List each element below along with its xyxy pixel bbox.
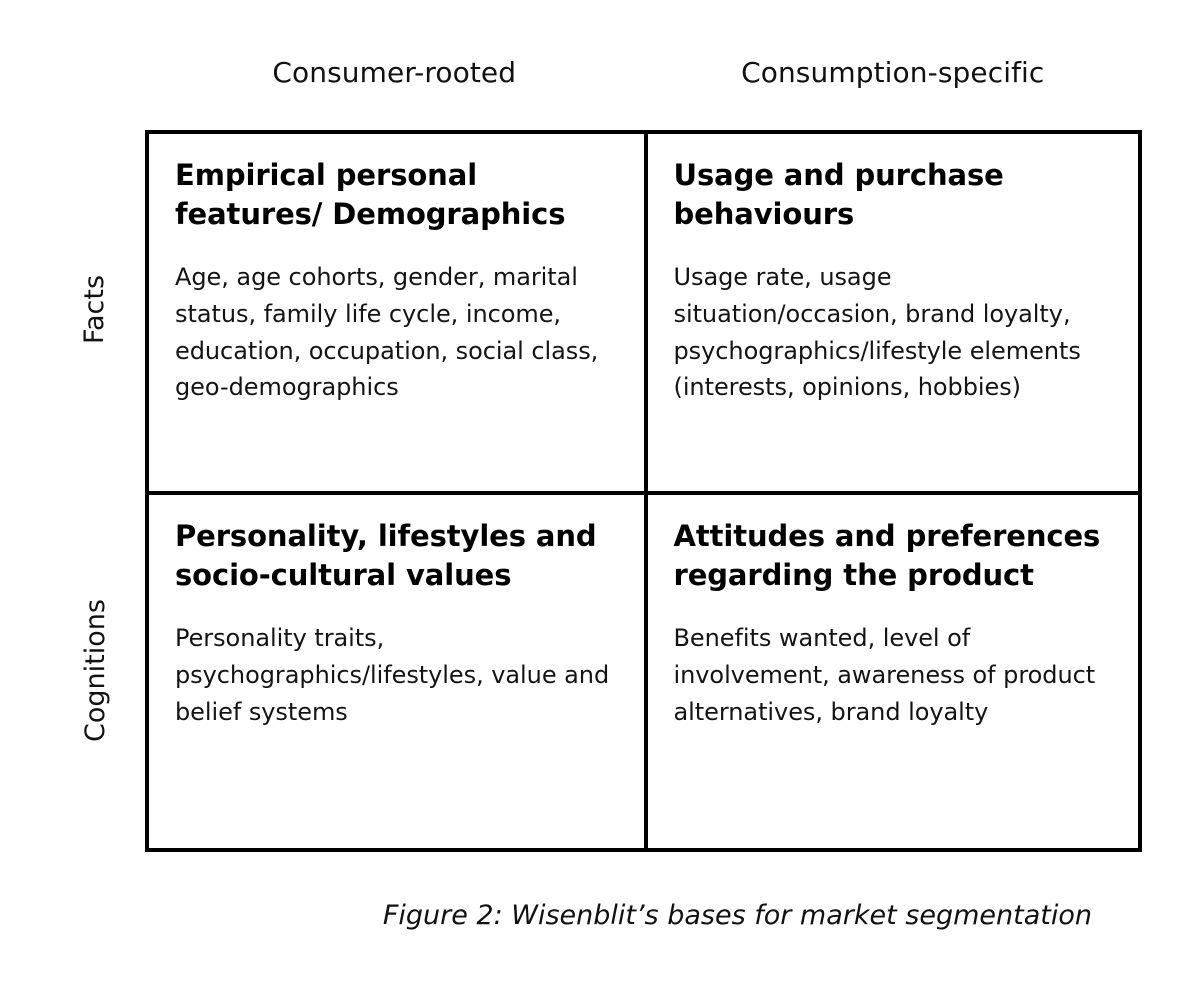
quadrant-title: Personality, lifestyles and socio-cultur… <box>175 517 618 594</box>
quadrant-cognitions-consumption-specific: Attitudes and preferences regarding the … <box>644 491 1139 848</box>
row-label-facts: Facts <box>60 130 130 489</box>
quadrant-title: Empirical personal features/ Demographic… <box>175 156 618 233</box>
row-label-facts-text: Facts <box>79 275 110 344</box>
row-label-column: Facts Cognitions <box>60 130 130 852</box>
quadrant-body: Age, age cohorts, gender, marital status… <box>175 259 618 406</box>
figure-caption: Figure 2: Wisenblit’s bases for market s… <box>0 900 1092 931</box>
matrix-grid: Empirical personal features/ Demographic… <box>145 130 1142 852</box>
quadrant-body: Personality traits, psychographics/lifes… <box>175 620 618 730</box>
quadrant-facts-consumption-specific: Usage and purchase behaviours Usage rate… <box>644 134 1139 491</box>
quadrant-body: Usage rate, usage situation/occasion, br… <box>674 259 1113 406</box>
quadrant-facts-consumer-rooted: Empirical personal features/ Demographic… <box>149 134 644 491</box>
column-header-consumer-rooted: Consumer-rooted <box>145 48 644 96</box>
quadrant-title: Usage and purchase behaviours <box>674 156 1113 233</box>
column-header-row: Consumer-rooted Consumption-specific <box>145 48 1142 96</box>
segmentation-matrix-figure: Consumer-rooted Consumption-specific Fac… <box>0 0 1200 993</box>
quadrant-body: Benefits wanted, level of involvement, a… <box>674 620 1113 730</box>
row-label-cognitions: Cognitions <box>60 489 130 852</box>
column-header-consumption-specific: Consumption-specific <box>644 48 1143 96</box>
quadrant-title: Attitudes and preferences regarding the … <box>674 517 1113 594</box>
row-label-cognitions-text: Cognitions <box>80 599 111 742</box>
quadrant-cognitions-consumer-rooted: Personality, lifestyles and socio-cultur… <box>149 491 644 848</box>
